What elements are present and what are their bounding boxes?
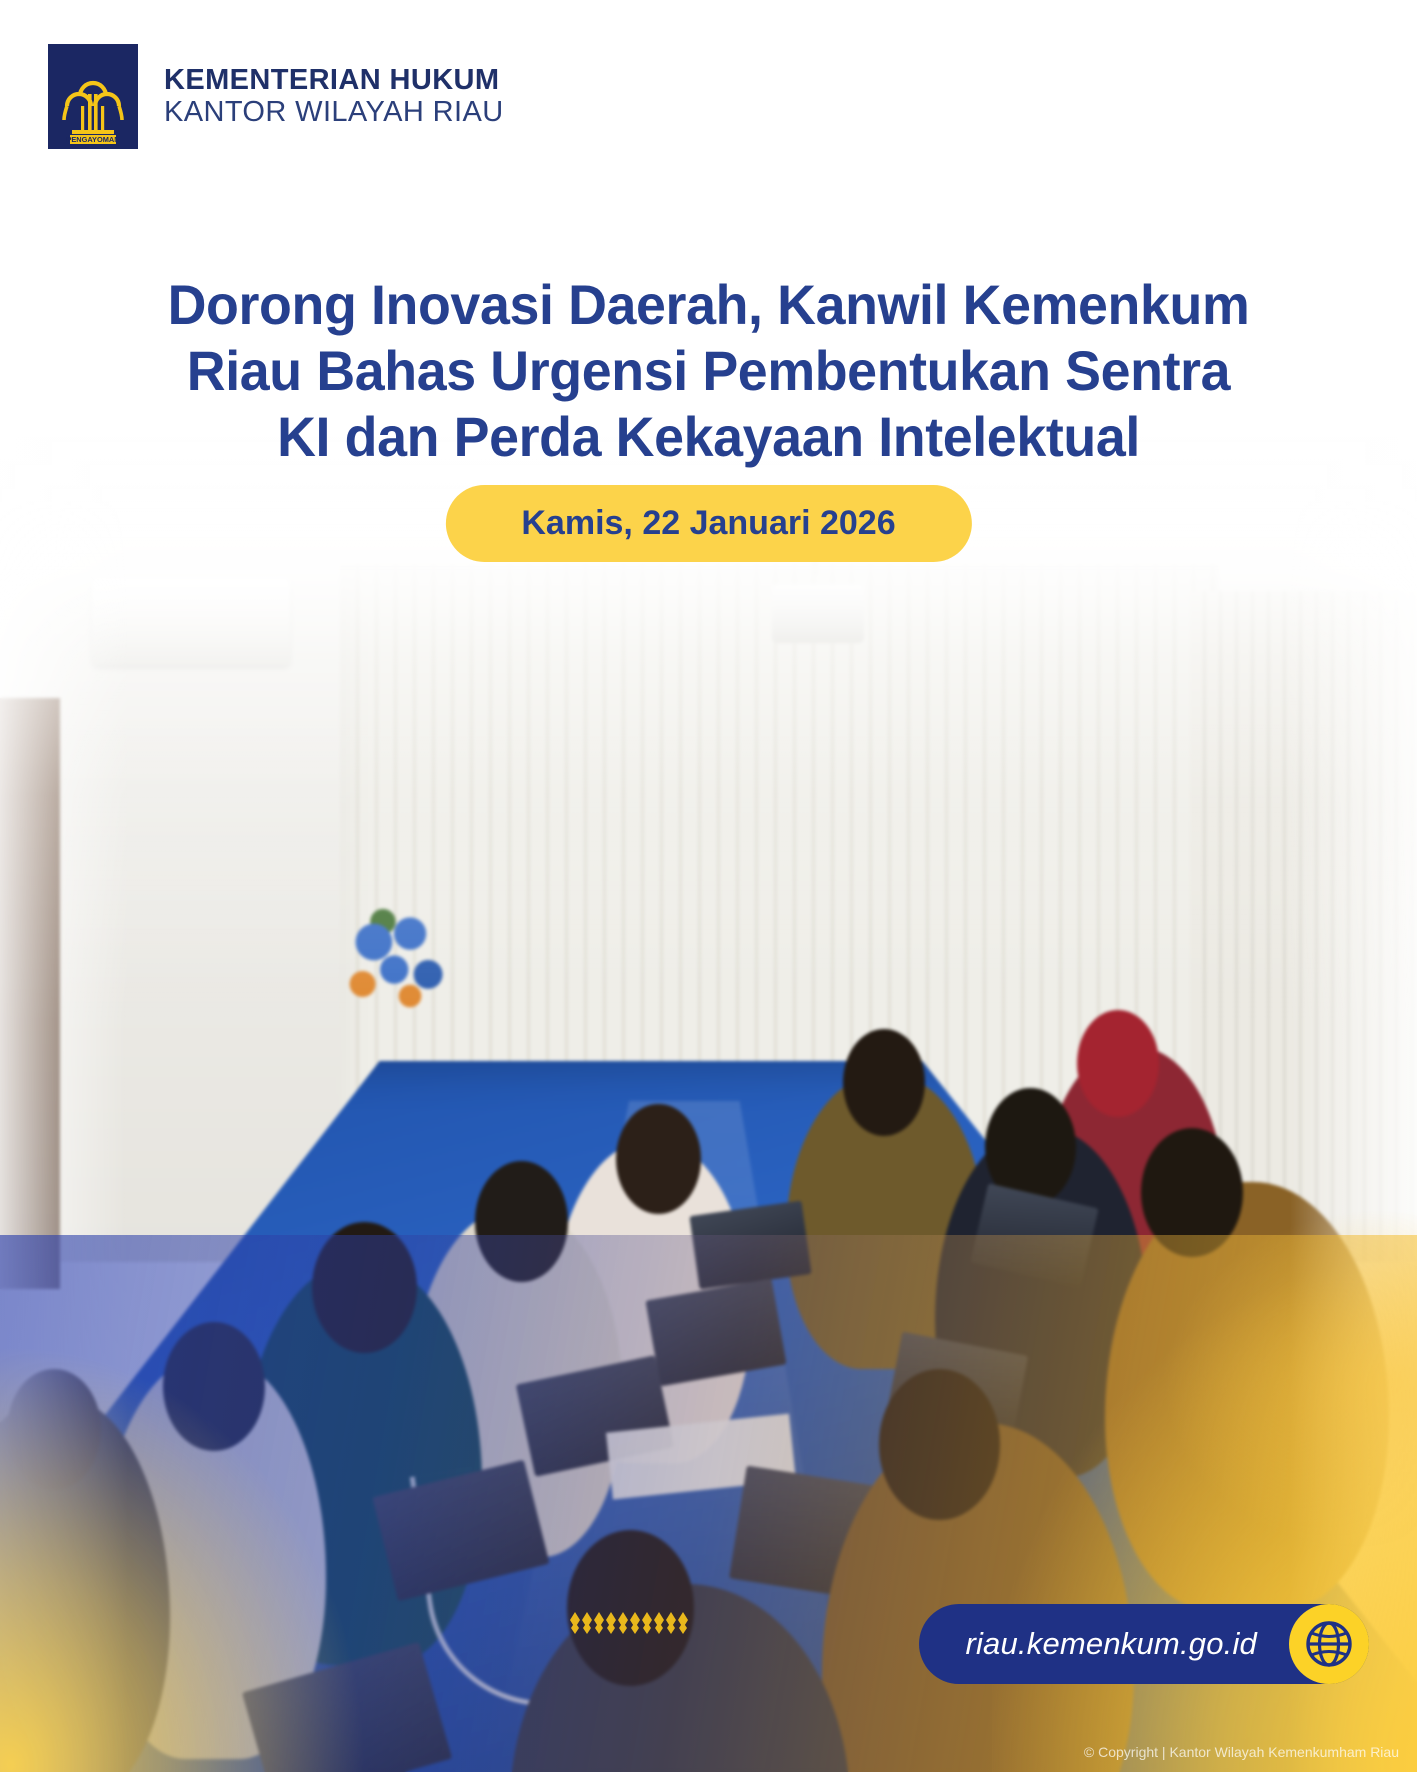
songket-diamond-ornament <box>568 1608 692 1642</box>
headline-line-3: KI dan Perda Kekayaan Intelektual <box>28 404 1388 470</box>
globe-icon <box>1289 1604 1369 1684</box>
headline-line-2: Riau Bahas Urgensi Pembentukan Sentra <box>28 338 1388 404</box>
headline-line-1: Dorong Inovasi Daerah, Kanwil Kemenkum <box>28 272 1388 338</box>
gold-glow-upper-right <box>1162 1208 1417 1557</box>
gold-glow-left <box>0 1343 368 1772</box>
poster-root: PENGAYOMAN KEMENTERIAN HUKUM KANTOR WILA… <box>0 0 1417 1772</box>
logo-caption-pengayoman: PENGAYOMAN <box>66 135 119 144</box>
brand-line-office: KANTOR WILAYAH RIAU <box>164 97 504 128</box>
website-pill[interactable]: riau.kemenkum.go.id <box>919 1604 1369 1684</box>
globe-icon-svg <box>1301 1616 1357 1672</box>
headline: Dorong Inovasi Daerah, Kanwil Kemenkum R… <box>0 272 1417 470</box>
copyright-text: © Copyright | Kantor Wilayah Kemenkumham… <box>1084 1744 1399 1760</box>
brand-line-ministry: KEMENTERIAN HUKUM <box>164 65 504 96</box>
pengayoman-banyan-tree-logo: PENGAYOMAN <box>48 44 138 149</box>
brand-text-block: KEMENTERIAN HUKUM KANTOR WILAYAH RIAU <box>164 65 504 128</box>
date-badge: Kamis, 22 Januari 2026 <box>445 485 971 562</box>
website-url[interactable]: riau.kemenkum.go.id <box>965 1626 1289 1662</box>
brand-header: PENGAYOMAN KEMENTERIAN HUKUM KANTOR WILA… <box>48 44 504 149</box>
event-photo <box>0 430 1417 1772</box>
